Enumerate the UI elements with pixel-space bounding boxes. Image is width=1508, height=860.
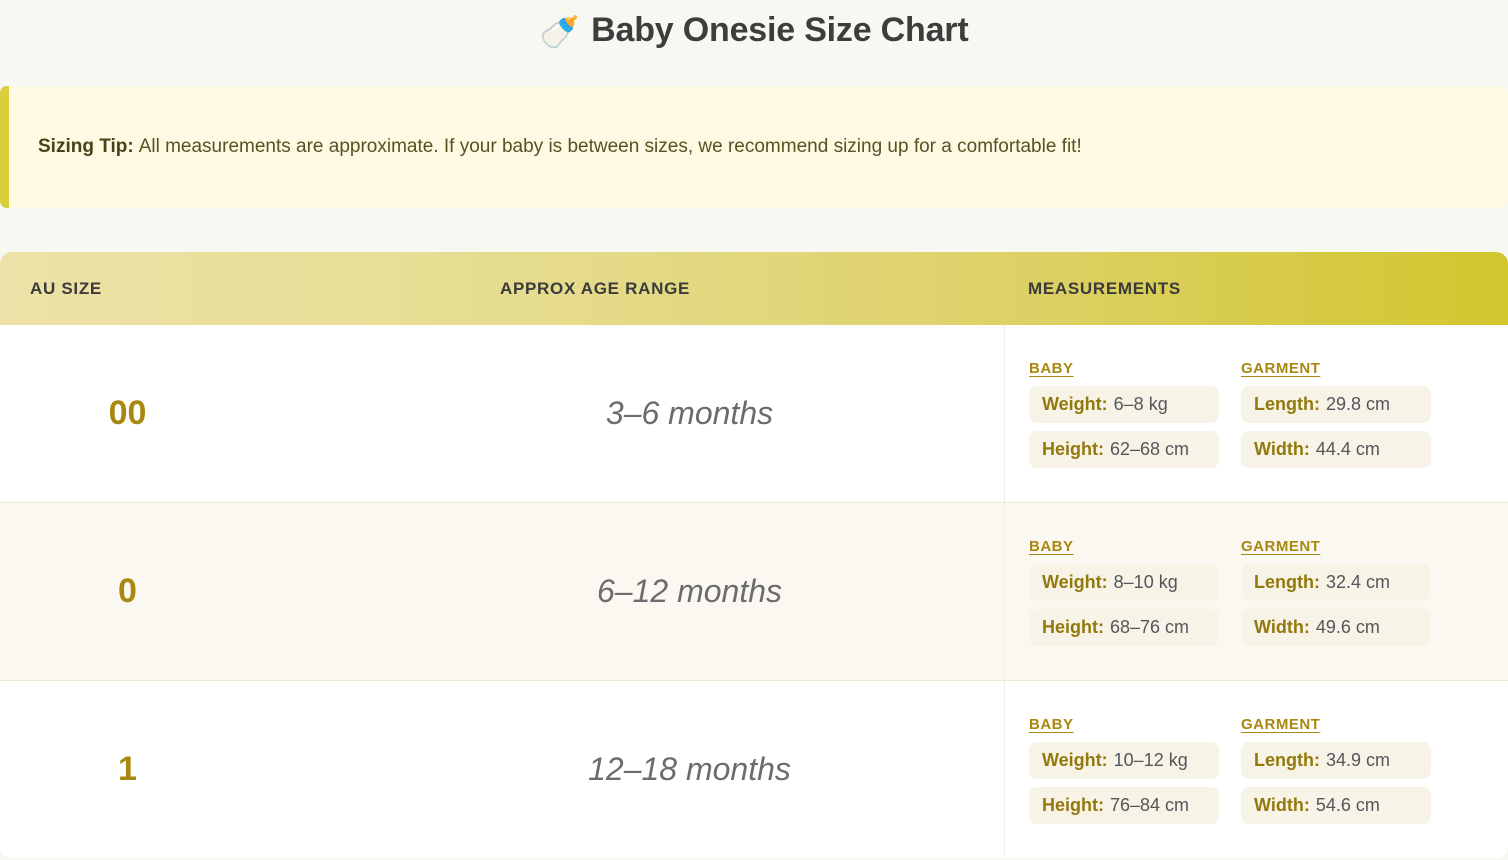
measurement-value: 8–10 kg <box>1114 572 1178 592</box>
measurement-key: Height: <box>1042 439 1104 459</box>
measurement-group-garment: GARMENT Length:32.4 cm Width:49.6 cm <box>1241 538 1431 646</box>
measurement-pill: Height:68–76 cm <box>1029 609 1219 646</box>
cell-age-range: 3–6 months <box>500 395 1004 432</box>
measurement-key: Width: <box>1254 617 1310 637</box>
column-header-measurements: MEASUREMENTS <box>1004 279 1508 299</box>
size-chart-table: AU SIZE APPROX AGE RANGE MEASUREMENTS 00… <box>0 252 1508 858</box>
measurement-group-title: BABY <box>1029 716 1219 733</box>
table-header-row: AU SIZE APPROX AGE RANGE MEASUREMENTS <box>0 252 1508 325</box>
measurement-value: 68–76 cm <box>1110 617 1189 637</box>
page-title-text: Baby Onesie Size Chart <box>591 11 968 49</box>
measurement-value: 44.4 cm <box>1316 439 1380 459</box>
measurement-pill: Width:54.6 cm <box>1241 787 1431 824</box>
table-row: 00 3–6 months BABY Weight:6–8 kg Height:… <box>0 325 1508 503</box>
cell-age-range: 6–12 months <box>500 573 1004 610</box>
measurement-pill: Height:62–68 cm <box>1029 431 1219 468</box>
measurement-key: Length: <box>1254 394 1320 414</box>
measurement-value: 32.4 cm <box>1326 572 1390 592</box>
measurement-group-garment: GARMENT Length:29.8 cm Width:44.4 cm <box>1241 360 1431 468</box>
measurement-key: Weight: <box>1042 394 1108 414</box>
measurement-pill: Length:34.9 cm <box>1241 742 1431 779</box>
column-header-age-range: APPROX AGE RANGE <box>500 279 1004 299</box>
measurement-key: Length: <box>1254 572 1320 592</box>
measurement-pill: Height:76–84 cm <box>1029 787 1219 824</box>
cell-measurements: BABY Weight:8–10 kg Height:68–76 cm GARM… <box>1004 503 1508 680</box>
measurement-pill: Weight:6–8 kg <box>1029 386 1219 423</box>
sizing-tip-label: Sizing Tip: <box>38 136 134 157</box>
cell-measurements: BABY Weight:6–8 kg Height:62–68 cm GARME… <box>1004 325 1508 502</box>
measurement-pill: Width:44.4 cm <box>1241 431 1431 468</box>
measurement-pill: Weight:8–10 kg <box>1029 564 1219 601</box>
measurement-key: Width: <box>1254 795 1310 815</box>
measurement-key: Width: <box>1254 439 1310 459</box>
column-header-au-size: AU SIZE <box>0 279 500 299</box>
measurement-key: Weight: <box>1042 572 1108 592</box>
measurement-pill: Length:29.8 cm <box>1241 386 1431 423</box>
measurement-value: 34.9 cm <box>1326 750 1390 770</box>
measurement-value: 29.8 cm <box>1326 394 1390 414</box>
measurement-key: Length: <box>1254 750 1320 770</box>
measurement-value: 54.6 cm <box>1316 795 1380 815</box>
measurement-group-baby: BABY Weight:8–10 kg Height:68–76 cm <box>1029 538 1219 646</box>
measurement-key: Weight: <box>1042 750 1108 770</box>
cell-au-size: 1 <box>0 750 500 789</box>
size-chart-page: 🍼Baby Onesie Size Chart Sizing Tip:All m… <box>0 0 1508 860</box>
measurement-group-title: GARMENT <box>1241 360 1431 377</box>
measurement-group-baby: BABY Weight:10–12 kg Height:76–84 cm <box>1029 716 1219 824</box>
measurement-group-title: GARMENT <box>1241 538 1431 555</box>
sizing-tip-body: All measurements are approximate. If you… <box>139 136 1082 157</box>
measurement-group-title: BABY <box>1029 360 1219 377</box>
measurement-value: 49.6 cm <box>1316 617 1380 637</box>
cell-au-size: 0 <box>0 572 500 611</box>
cell-au-size: 00 <box>0 394 500 433</box>
baby-bottle-icon: 🍼 <box>540 14 580 50</box>
table-row: 0 6–12 months BABY Weight:8–10 kg Height… <box>0 503 1508 681</box>
sizing-tip-text: Sizing Tip:All measurements are approxim… <box>9 135 1082 160</box>
measurement-value: 76–84 cm <box>1110 795 1189 815</box>
cell-age-range: 12–18 months <box>500 751 1004 788</box>
measurement-key: Height: <box>1042 795 1104 815</box>
page-title: 🍼Baby Onesie Size Chart <box>0 0 1508 56</box>
measurement-value: 6–8 kg <box>1114 394 1168 414</box>
measurement-key: Height: <box>1042 617 1104 637</box>
sizing-tip-banner: Sizing Tip:All measurements are approxim… <box>0 86 1508 208</box>
measurement-value: 10–12 kg <box>1114 750 1188 770</box>
measurement-pill: Width:49.6 cm <box>1241 609 1431 646</box>
measurement-pill: Weight:10–12 kg <box>1029 742 1219 779</box>
measurement-group-title: GARMENT <box>1241 716 1431 733</box>
measurement-group-baby: BABY Weight:6–8 kg Height:62–68 cm <box>1029 360 1219 468</box>
cell-measurements: BABY Weight:10–12 kg Height:76–84 cm GAR… <box>1004 681 1508 858</box>
measurement-pill: Length:32.4 cm <box>1241 564 1431 601</box>
measurement-group-title: BABY <box>1029 538 1219 555</box>
measurement-group-garment: GARMENT Length:34.9 cm Width:54.6 cm <box>1241 716 1431 824</box>
table-row: 1 12–18 months BABY Weight:10–12 kg Heig… <box>0 681 1508 858</box>
measurement-value: 62–68 cm <box>1110 439 1189 459</box>
